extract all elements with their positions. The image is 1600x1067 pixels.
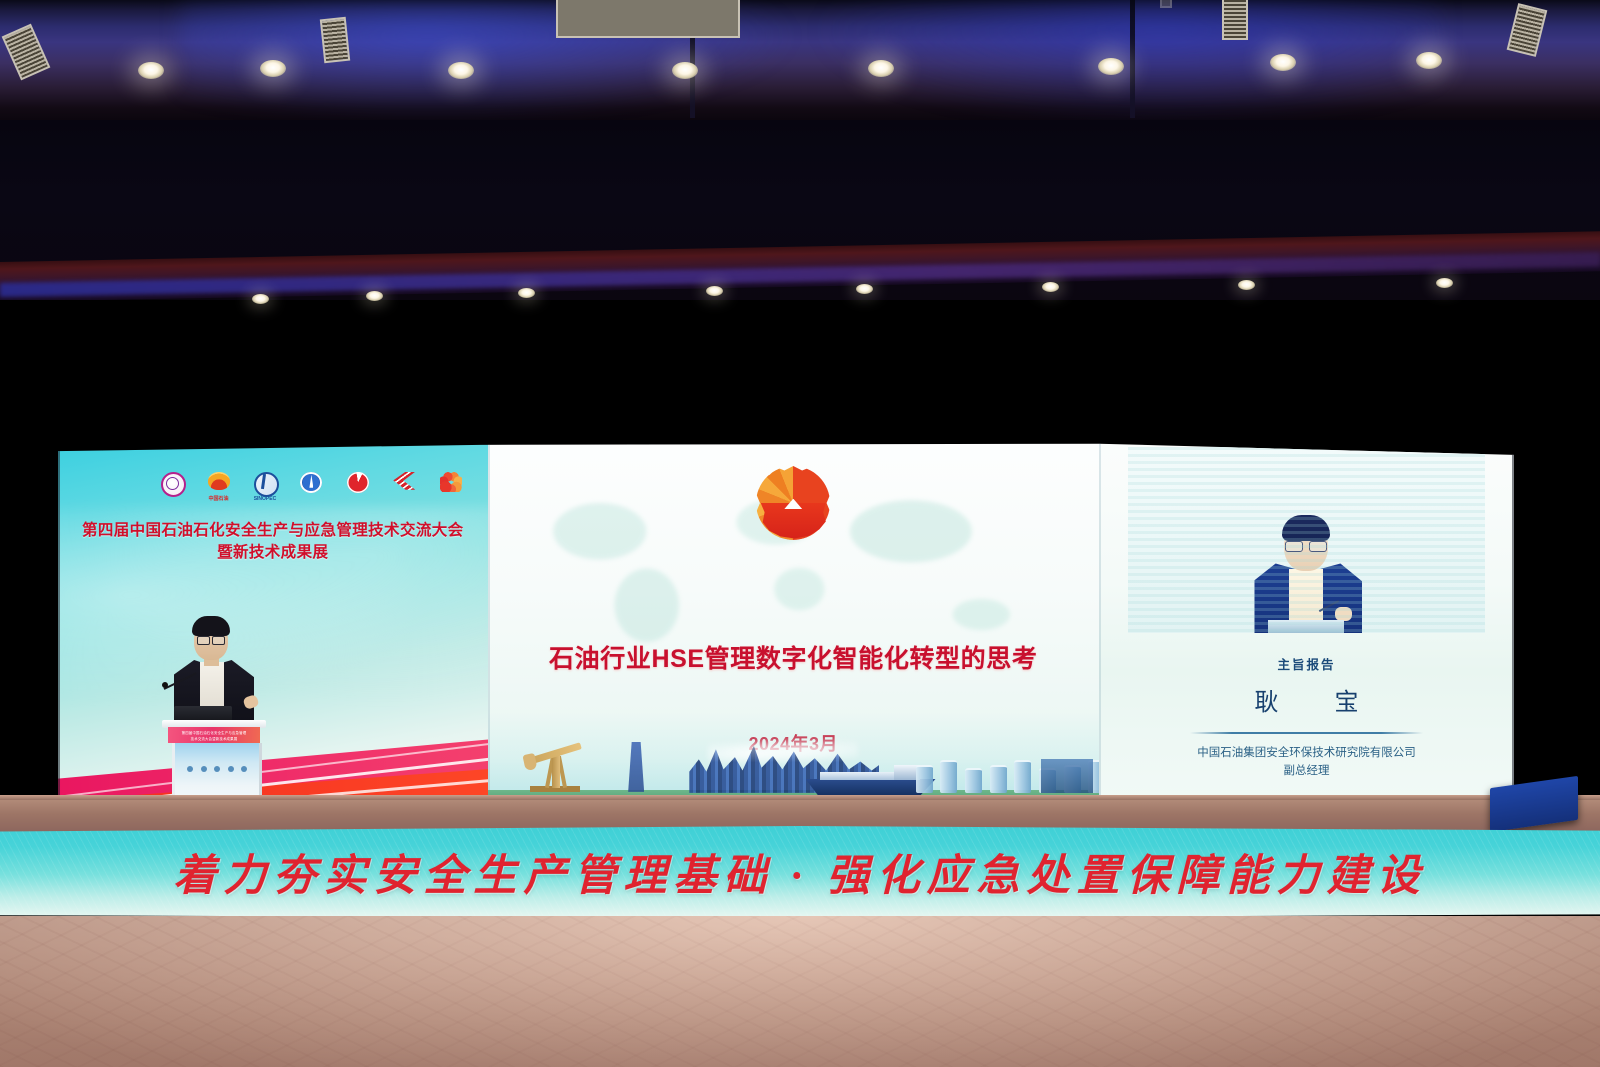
podium-logo-strip — [187, 765, 247, 772]
podium-banner-line1: 第四届中国石油石化安全生产与应急管理 — [182, 730, 247, 735]
red-chevron-logo — [393, 472, 415, 494]
air-vent-icon — [556, 0, 740, 38]
live-speaker-at-podium: 第四届中国石油石化安全生产与应急管理 技术交流大会暨新技术成果展 — [150, 612, 280, 812]
downlight-icon — [518, 288, 535, 298]
air-vent-icon — [1160, 0, 1172, 8]
air-vent-icon — [320, 17, 350, 63]
air-vent-icon — [1222, 0, 1248, 40]
downlight-icon — [856, 284, 873, 294]
downlight-icon — [868, 60, 894, 77]
downlight-icon — [1270, 54, 1296, 71]
ceiling-panel — [0, 0, 1600, 132]
slide-title: 石油行业HSE管理数字化智能化转型的思考 — [500, 639, 1087, 675]
screen-right-panel: 主旨报告 耿 宝 中国石油集团安全环保技术研究院有限公司 副总经理 — [1099, 440, 1514, 812]
sinopec-logo: SINOPEC — [254, 472, 276, 494]
panel-divider — [1099, 440, 1101, 812]
downlight-icon — [1436, 278, 1453, 288]
colorful-flower-logo — [440, 472, 462, 494]
downlight-icon — [138, 62, 164, 79]
cnooc-logo — [300, 472, 322, 494]
petrochina-sunflower-logo — [756, 466, 830, 540]
glasses-icon — [197, 636, 225, 643]
ceiling-seam — [1130, 0, 1135, 118]
speaker-org-line1: 中国石油集团安全环保技术研究院有限公司 — [1197, 747, 1416, 759]
keynote-label: 主旨报告 — [1099, 654, 1514, 673]
stage-front-banner: 着力夯实安全生产管理基础 · 强化应急处置保障能力建设 — [0, 826, 1600, 918]
downlight-icon — [1098, 58, 1124, 75]
downlight-icon — [252, 294, 269, 304]
downlight-icon — [1416, 52, 1442, 69]
conference-title-line1: 第四届中国石油石化安全生产与应急管理技术交流大会 — [82, 522, 464, 539]
stage-left-dark — [0, 300, 62, 830]
microphone-head-icon — [162, 682, 168, 688]
stage-banner-text: 着力夯实安全生产管理基础 · 强化应急处置保障能力建设 — [0, 841, 1600, 903]
conference-hall-scene: 中国石油 SINOPEC 第四届中国石油石化安全生产与应急管理技术交流大会 暨新… — [0, 0, 1600, 1067]
speaker-name: 耿 宝 — [1099, 682, 1514, 717]
podium-banner-line2: 技术交流大会暨新技术成果展 — [191, 736, 238, 741]
downlight-icon — [366, 291, 383, 301]
industrial-building — [1041, 759, 1093, 793]
downlight-icon — [1238, 280, 1255, 290]
panel-divider — [488, 440, 490, 812]
conference-title: 第四届中国石油石化安全生产与应急管理技术交流大会 暨新技术成果展 — [71, 520, 475, 564]
speaker-organization: 中国石油集团安全环保技术研究院有限公司 副总经理 — [1107, 745, 1505, 781]
downlight-icon — [1042, 282, 1059, 292]
floor-shading — [0, 916, 1600, 1067]
name-divider-rule — [1190, 732, 1422, 734]
downlight-icon — [706, 286, 723, 296]
stage-right-dark — [1514, 300, 1600, 830]
downlight-icon — [448, 62, 474, 79]
downlight-icon — [672, 62, 698, 79]
sponsor-logos-row: 中国石油 SINOPEC — [161, 460, 462, 505]
live-camera-feed — [1128, 447, 1485, 633]
speaker-org-line2: 副总经理 — [1107, 763, 1505, 781]
cnpc-safety-logo — [161, 472, 183, 494]
air-vent-icon — [1507, 3, 1548, 57]
conference-title-line2: 暨新技术成果展 — [71, 542, 475, 564]
downlight-icon — [260, 60, 286, 77]
screen-center-panel: 石油行业HSE管理数字化智能化转型的思考 2024年3月 — [488, 440, 1100, 812]
air-vent-icon — [2, 24, 51, 81]
podium-banner: 第四届中国石油石化安全生产与应急管理 技术交流大会暨新技术成果展 — [168, 727, 260, 743]
petrochina-logo: 中国石油 — [208, 472, 230, 494]
oil-pumpjack-icon — [524, 746, 586, 792]
red-emblem-logo — [347, 472, 369, 494]
